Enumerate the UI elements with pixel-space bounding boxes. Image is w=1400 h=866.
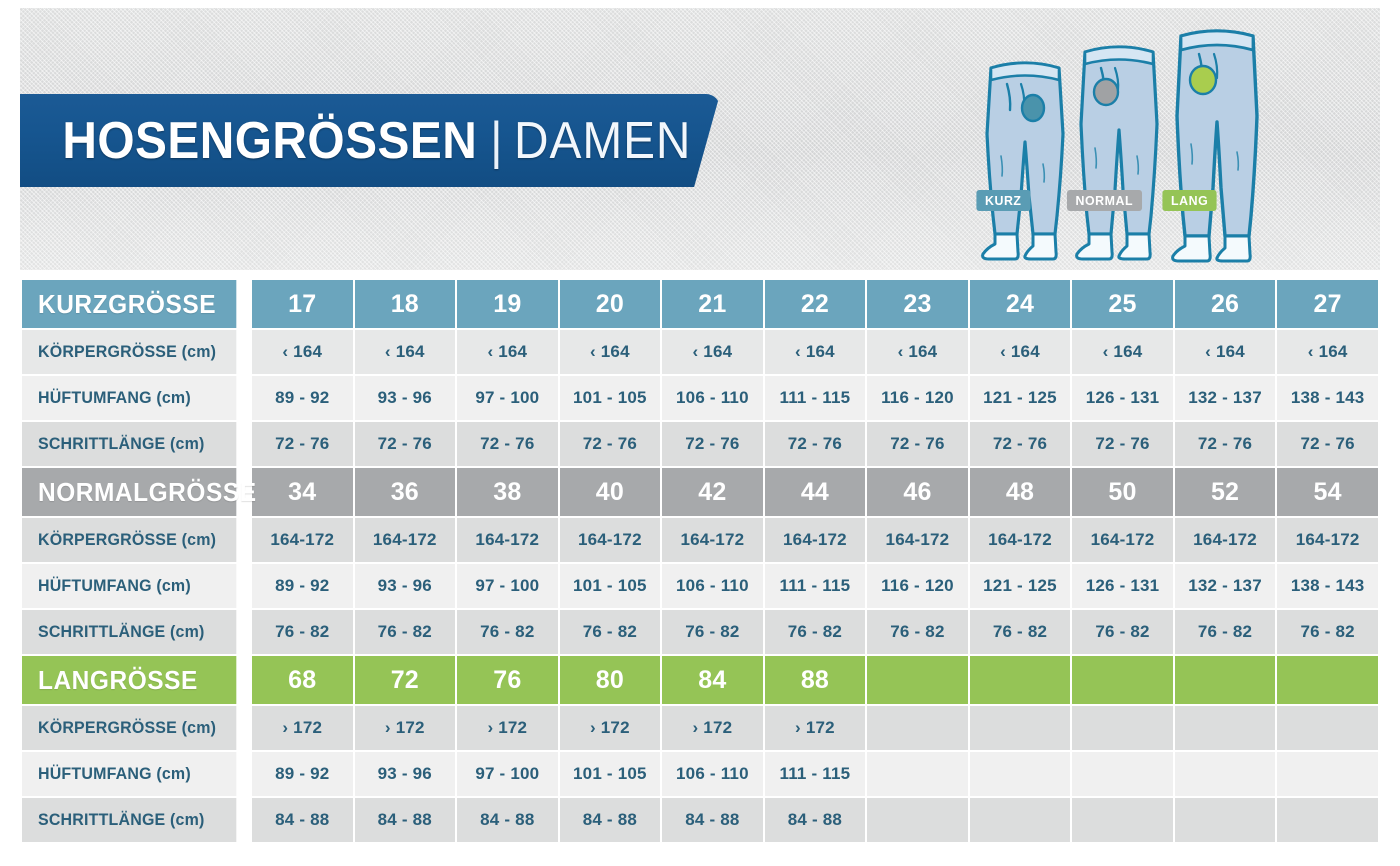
size-cell-empty: [1277, 656, 1378, 704]
value-cell-empty: [970, 798, 1071, 842]
row-label-koerpergroesse: KÖRPERGRÖSSE (cm): [22, 706, 236, 750]
table-row: HÜFTUMFANG (cm) 89 - 92 93 - 96 97 - 100…: [22, 376, 1378, 420]
value-cell: ‹ 164: [765, 330, 866, 374]
value-cell: 101 - 105: [560, 752, 661, 796]
value-cell: 164-172: [1277, 518, 1378, 562]
size-table-body: KURZGRÖSSE 17 18 19 20 21 22 23 24 25 26…: [22, 280, 1378, 842]
size-cell-empty: [970, 656, 1071, 704]
table-row: KÖRPERGRÖSSE (cm) 164-172 164-172 164-17…: [22, 518, 1378, 562]
value-cell: 121 - 125: [970, 376, 1071, 420]
value-cell: 164-172: [1175, 518, 1276, 562]
size-chart-page: HOSENGRÖSSEN|DAMEN KURZ: [0, 0, 1400, 866]
value-cell: 138 - 143: [1277, 376, 1378, 420]
value-cell: 106 - 110: [662, 376, 763, 420]
value-cell: 76 - 82: [765, 610, 866, 654]
value-cell-empty: [867, 706, 968, 750]
value-cell: 164-172: [252, 518, 353, 562]
size-cell: 27: [1277, 280, 1378, 328]
page-title-sub: DAMEN: [514, 112, 691, 170]
value-cell: 72 - 76: [970, 422, 1071, 466]
size-cell: 20: [560, 280, 661, 328]
value-cell: 84 - 88: [355, 798, 456, 842]
value-cell: ‹ 164: [970, 330, 1071, 374]
value-cell: ‹ 164: [1175, 330, 1276, 374]
size-cell: 68: [252, 656, 353, 704]
value-cell: ‹ 164: [1072, 330, 1173, 374]
row-label-hueftumfang: HÜFTUMFANG (cm): [22, 564, 236, 608]
value-cell: 84 - 88: [560, 798, 661, 842]
size-cell: 52: [1175, 468, 1276, 516]
size-cell: 21: [662, 280, 763, 328]
value-cell: 106 - 110: [662, 564, 763, 608]
value-cell: ‹ 164: [252, 330, 353, 374]
value-cell: 76 - 82: [1277, 610, 1378, 654]
value-cell: 116 - 120: [867, 564, 968, 608]
header-band: HOSENGRÖSSEN|DAMEN KURZ: [20, 8, 1380, 270]
size-cell: 24: [970, 280, 1071, 328]
pants-lang-icon: [1167, 24, 1267, 264]
size-cell: 18: [355, 280, 456, 328]
value-cell: 106 - 110: [662, 752, 763, 796]
value-cell: 126 - 131: [1072, 564, 1173, 608]
value-cell: 164-172: [867, 518, 968, 562]
size-cell: 22: [765, 280, 866, 328]
pants-illustration-lang: LANG: [1167, 24, 1267, 264]
value-cell: 97 - 100: [457, 376, 558, 420]
value-cell: 76 - 82: [252, 610, 353, 654]
value-cell: 72 - 76: [252, 422, 353, 466]
value-cell: › 172: [662, 706, 763, 750]
value-cell-empty: [1277, 752, 1378, 796]
size-cell-empty: [867, 656, 968, 704]
value-cell: 84 - 88: [252, 798, 353, 842]
size-table: KURZGRÖSSE 17 18 19 20 21 22 23 24 25 26…: [20, 278, 1380, 844]
value-cell-empty: [1175, 798, 1276, 842]
value-cell: ‹ 164: [355, 330, 456, 374]
size-cell: 84: [662, 656, 763, 704]
size-cell: 23: [867, 280, 968, 328]
value-cell: 76 - 82: [560, 610, 661, 654]
pants-badge-kurz: KURZ: [976, 190, 1030, 211]
size-cell: 76: [457, 656, 558, 704]
value-cell: 76 - 82: [457, 610, 558, 654]
value-cell-empty: [1277, 798, 1378, 842]
value-cell-empty: [1277, 706, 1378, 750]
value-cell: 72 - 76: [1175, 422, 1276, 466]
value-cell: 164-172: [560, 518, 661, 562]
value-cell: 111 - 115: [765, 752, 866, 796]
value-cell: 72 - 76: [867, 422, 968, 466]
value-cell: 132 - 137: [1175, 564, 1276, 608]
section-label-lang: LANGRÖSSE: [22, 656, 236, 704]
table-row: KÖRPERGRÖSSE (cm) ‹ 164 ‹ 164 ‹ 164 ‹ 16…: [22, 330, 1378, 374]
value-cell: › 172: [355, 706, 456, 750]
value-cell-empty: [867, 798, 968, 842]
pants-badge-normal: NORMAL: [1067, 190, 1142, 211]
value-cell: 72 - 76: [457, 422, 558, 466]
value-cell-empty: [970, 706, 1071, 750]
value-cell: 164-172: [457, 518, 558, 562]
pants-illustration-group: KURZ NORMAL: [965, 22, 1265, 267]
title-banner: HOSENGRÖSSEN|DAMEN: [20, 94, 720, 187]
pants-illustration-normal: NORMAL: [1071, 40, 1167, 262]
size-cell: 88: [765, 656, 866, 704]
value-cell: 76 - 82: [970, 610, 1071, 654]
value-cell: 126 - 131: [1072, 376, 1173, 420]
size-cell: 72: [355, 656, 456, 704]
section-label-normal: NORMALGRÖSSE: [22, 468, 236, 516]
size-cell: 38: [457, 468, 558, 516]
size-cell: 36: [355, 468, 456, 516]
value-cell: 111 - 115: [765, 564, 866, 608]
size-table-container: KURZGRÖSSE 17 18 19 20 21 22 23 24 25 26…: [20, 278, 1380, 858]
value-cell: 164-172: [662, 518, 763, 562]
value-cell: 97 - 100: [457, 564, 558, 608]
value-cell: ‹ 164: [662, 330, 763, 374]
value-cell: 84 - 88: [457, 798, 558, 842]
value-cell: 72 - 76: [1277, 422, 1378, 466]
value-cell: 76 - 82: [867, 610, 968, 654]
section-header-row-kurz: KURZGRÖSSE 17 18 19 20 21 22 23 24 25 26…: [22, 280, 1378, 328]
table-row: SCHRITTLÄNGE (cm) 72 - 76 72 - 76 72 - 7…: [22, 422, 1378, 466]
section-header-row-normal: NORMALGRÖSSE 34 36 38 40 42 44 46 48 50 …: [22, 468, 1378, 516]
size-cell: 44: [765, 468, 866, 516]
size-cell: 34: [252, 468, 353, 516]
size-cell-empty: [1175, 656, 1276, 704]
value-cell: 111 - 115: [765, 376, 866, 420]
value-cell: 93 - 96: [355, 376, 456, 420]
size-cell: 42: [662, 468, 763, 516]
value-cell-empty: [1175, 752, 1276, 796]
size-cell: 46: [867, 468, 968, 516]
pants-kurz-icon: [977, 56, 1073, 261]
table-row: KÖRPERGRÖSSE (cm) › 172 › 172 › 172 › 17…: [22, 706, 1378, 750]
row-label-hueftumfang: HÜFTUMFANG (cm): [22, 752, 236, 796]
size-cell: 50: [1072, 468, 1173, 516]
table-row: SCHRITTLÄNGE (cm) 84 - 88 84 - 88 84 - 8…: [22, 798, 1378, 842]
value-cell: ‹ 164: [457, 330, 558, 374]
row-label-schrittlaenge: SCHRITTLÄNGE (cm): [22, 422, 236, 466]
size-cell: 19: [457, 280, 558, 328]
value-cell: 132 - 137: [1175, 376, 1276, 420]
size-cell: 25: [1072, 280, 1173, 328]
value-cell: ‹ 164: [867, 330, 968, 374]
pants-illustration-kurz: KURZ: [977, 56, 1073, 261]
row-label-schrittlaenge: SCHRITTLÄNGE (cm): [22, 610, 236, 654]
value-cell: 76 - 82: [355, 610, 456, 654]
value-cell: 72 - 76: [1072, 422, 1173, 466]
value-cell: 76 - 82: [662, 610, 763, 654]
size-cell: 40: [560, 468, 661, 516]
page-title: HOSENGRÖSSEN|DAMEN: [20, 115, 691, 167]
value-cell: › 172: [252, 706, 353, 750]
size-cell: 17: [252, 280, 353, 328]
value-cell-empty: [970, 752, 1071, 796]
page-title-separator: |: [490, 112, 503, 170]
value-cell: 72 - 76: [355, 422, 456, 466]
value-cell-empty: [1072, 798, 1173, 842]
table-row: HÜFTUMFANG (cm) 89 - 92 93 - 96 97 - 100…: [22, 564, 1378, 608]
size-cell: 48: [970, 468, 1071, 516]
value-cell: 164-172: [355, 518, 456, 562]
value-cell: 89 - 92: [252, 564, 353, 608]
value-cell: › 172: [765, 706, 866, 750]
value-cell: 138 - 143: [1277, 564, 1378, 608]
value-cell-empty: [1175, 706, 1276, 750]
value-cell: 76 - 82: [1175, 610, 1276, 654]
value-cell: 97 - 100: [457, 752, 558, 796]
section-header-row-lang: LANGRÖSSE 68 72 76 80 84 88: [22, 656, 1378, 704]
value-cell: 164-172: [765, 518, 866, 562]
value-cell: › 172: [457, 706, 558, 750]
section-label-kurz: KURZGRÖSSE: [22, 280, 236, 328]
value-cell: 72 - 76: [560, 422, 661, 466]
size-cell-empty: [1072, 656, 1173, 704]
value-cell: 89 - 92: [252, 376, 353, 420]
size-cell: 26: [1175, 280, 1276, 328]
value-cell: 121 - 125: [970, 564, 1071, 608]
value-cell: 76 - 82: [1072, 610, 1173, 654]
row-label-koerpergroesse: KÖRPERGRÖSSE (cm): [22, 518, 236, 562]
value-cell: 84 - 88: [765, 798, 866, 842]
row-label-schrittlaenge: SCHRITTLÄNGE (cm): [22, 798, 236, 842]
table-row: SCHRITTLÄNGE (cm) 76 - 82 76 - 82 76 - 8…: [22, 610, 1378, 654]
page-title-main: HOSENGRÖSSEN: [62, 112, 477, 170]
value-cell: 164-172: [1072, 518, 1173, 562]
value-cell: 93 - 96: [355, 752, 456, 796]
value-cell: › 172: [560, 706, 661, 750]
size-cell: 80: [560, 656, 661, 704]
value-cell: ‹ 164: [560, 330, 661, 374]
value-cell: 101 - 105: [560, 564, 661, 608]
value-cell: ‹ 164: [1277, 330, 1378, 374]
value-cell: 164-172: [970, 518, 1071, 562]
value-cell: 89 - 92: [252, 752, 353, 796]
value-cell: 116 - 120: [867, 376, 968, 420]
value-cell-empty: [1072, 706, 1173, 750]
value-cell: 72 - 76: [765, 422, 866, 466]
value-cell-empty: [1072, 752, 1173, 796]
row-label-hueftumfang: HÜFTUMFANG (cm): [22, 376, 236, 420]
value-cell: 72 - 76: [662, 422, 763, 466]
value-cell: 84 - 88: [662, 798, 763, 842]
value-cell: 101 - 105: [560, 376, 661, 420]
pants-badge-lang: LANG: [1162, 190, 1216, 211]
table-row: HÜFTUMFANG (cm) 89 - 92 93 - 96 97 - 100…: [22, 752, 1378, 796]
value-cell: 93 - 96: [355, 564, 456, 608]
row-label-koerpergroesse: KÖRPERGRÖSSE (cm): [22, 330, 236, 374]
pants-normal-icon: [1071, 40, 1167, 262]
value-cell-empty: [867, 752, 968, 796]
size-cell: 54: [1277, 468, 1378, 516]
